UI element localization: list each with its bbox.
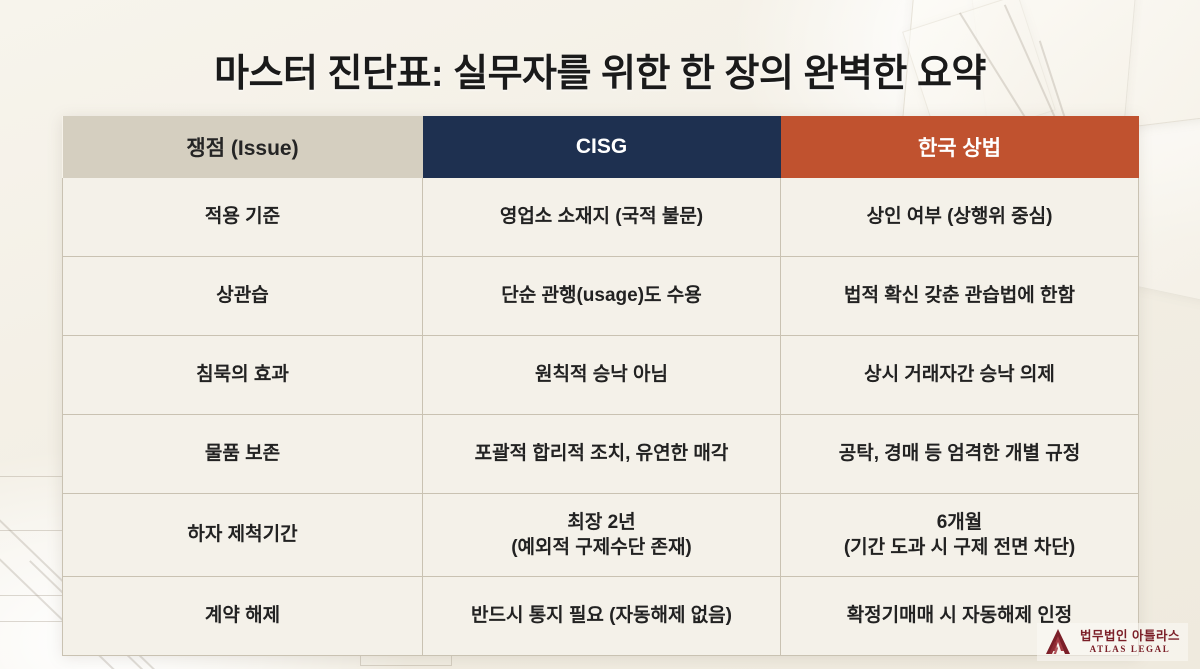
cell-korea: 6개월 (기간 도과 시 구제 전면 차단)	[781, 494, 1139, 577]
comparison-table-container: 쟁점 (Issue) CISG 한국 상법 적용 기준 영업소 소재지 (국적 …	[62, 116, 1138, 656]
cell-cisg-main: 최장 2년	[431, 510, 772, 535]
cell-korea: 법적 확신 갖춘 관습법에 한함	[781, 257, 1139, 336]
cell-cisg-main: 영업소 소재지 (국적 불문)	[431, 204, 772, 229]
logo-name-ko: 법무법인 아틀라스	[1080, 630, 1180, 643]
cell-issue: 물품 보존	[63, 415, 423, 494]
table-row: 계약 해제 반드시 통지 필요 (자동해제 없음) 확정기매매 시 자동해제 인…	[63, 577, 1139, 656]
table-header: 쟁점 (Issue) CISG 한국 상법	[63, 116, 1139, 178]
cell-issue: 계약 해제	[63, 577, 423, 656]
cell-korea-main: 상시 거래자간 승낙 의제	[789, 362, 1130, 387]
cell-korea: 상시 거래자간 승낙 의제	[781, 336, 1139, 415]
logo-wordmark: 법무법인 아틀라스 ATLAS LEGAL	[1080, 630, 1180, 655]
cell-cisg: 포괄적 합리적 조치, 유연한 매각	[423, 415, 781, 494]
cell-issue: 상관습	[63, 257, 423, 336]
table-row: 침묵의 효과 원칙적 승낙 아님 상시 거래자간 승낙 의제	[63, 336, 1139, 415]
cell-korea-main: 상인 여부 (상행위 중심)	[789, 204, 1130, 229]
table-row: 적용 기준 영업소 소재지 (국적 불문) 상인 여부 (상행위 중심)	[63, 178, 1139, 257]
table-header-row: 쟁점 (Issue) CISG 한국 상법	[63, 116, 1139, 178]
cell-cisg: 최장 2년 (예외적 구제수단 존재)	[423, 494, 781, 577]
page-title: 마스터 진단표: 실무자를 위한 한 장의 완벽한 요약	[0, 42, 1200, 97]
cell-cisg-main: 반드시 통지 필요 (자동해제 없음)	[431, 603, 772, 628]
comparison-table: 쟁점 (Issue) CISG 한국 상법 적용 기준 영업소 소재지 (국적 …	[62, 116, 1139, 656]
cell-cisg-main: 단순 관행(usage)도 수용	[431, 283, 772, 308]
column-header-issue: 쟁점 (Issue)	[63, 116, 423, 178]
table-row: 상관습 단순 관행(usage)도 수용 법적 확신 갖춘 관습법에 한함	[63, 257, 1139, 336]
slide-canvas: 마스터 진단표: 실무자를 위한 한 장의 완벽한 요약 쟁점 (Issue) …	[0, 0, 1200, 669]
cell-issue: 적용 기준	[63, 178, 423, 257]
cell-cisg-sub: (예외적 구제수단 존재)	[431, 535, 772, 560]
table-body: 적용 기준 영업소 소재지 (국적 불문) 상인 여부 (상행위 중심) 상관습…	[63, 178, 1139, 656]
cell-korea: 공탁, 경매 등 엄격한 개별 규정	[781, 415, 1139, 494]
column-header-cisg: CISG	[423, 116, 781, 178]
cell-korea-main: 공탁, 경매 등 엄격한 개별 규정	[789, 441, 1130, 466]
cell-korea: 상인 여부 (상행위 중심)	[781, 178, 1139, 257]
logo-name-en: ATLAS LEGAL	[1090, 645, 1171, 654]
cell-cisg: 단순 관행(usage)도 수용	[423, 257, 781, 336]
cell-cisg-main: 원칙적 승낙 아님	[431, 362, 772, 387]
cell-korea-main: 법적 확신 갖춘 관습법에 한함	[789, 283, 1130, 308]
cell-issue: 침묵의 효과	[63, 336, 423, 415]
table-row: 물품 보존 포괄적 합리적 조치, 유연한 매각 공탁, 경매 등 엄격한 개별…	[63, 415, 1139, 494]
column-header-korea: 한국 상법	[781, 116, 1139, 178]
cell-cisg-main: 포괄적 합리적 조치, 유연한 매각	[431, 441, 772, 466]
cell-cisg: 반드시 통지 필요 (자동해제 없음)	[423, 577, 781, 656]
firm-logo: 법무법인 아틀라스 ATLAS LEGAL	[1037, 623, 1188, 661]
cell-korea-sub: (기간 도과 시 구제 전면 차단)	[789, 535, 1130, 560]
atlas-triangle-icon	[1043, 627, 1073, 657]
cell-cisg: 영업소 소재지 (국적 불문)	[423, 178, 781, 257]
cell-cisg: 원칙적 승낙 아님	[423, 336, 781, 415]
table-row: 하자 제척기간 최장 2년 (예외적 구제수단 존재) 6개월 (기간 도과 시…	[63, 494, 1139, 577]
cell-issue: 하자 제척기간	[63, 494, 423, 577]
cell-korea-main: 6개월	[789, 510, 1130, 535]
